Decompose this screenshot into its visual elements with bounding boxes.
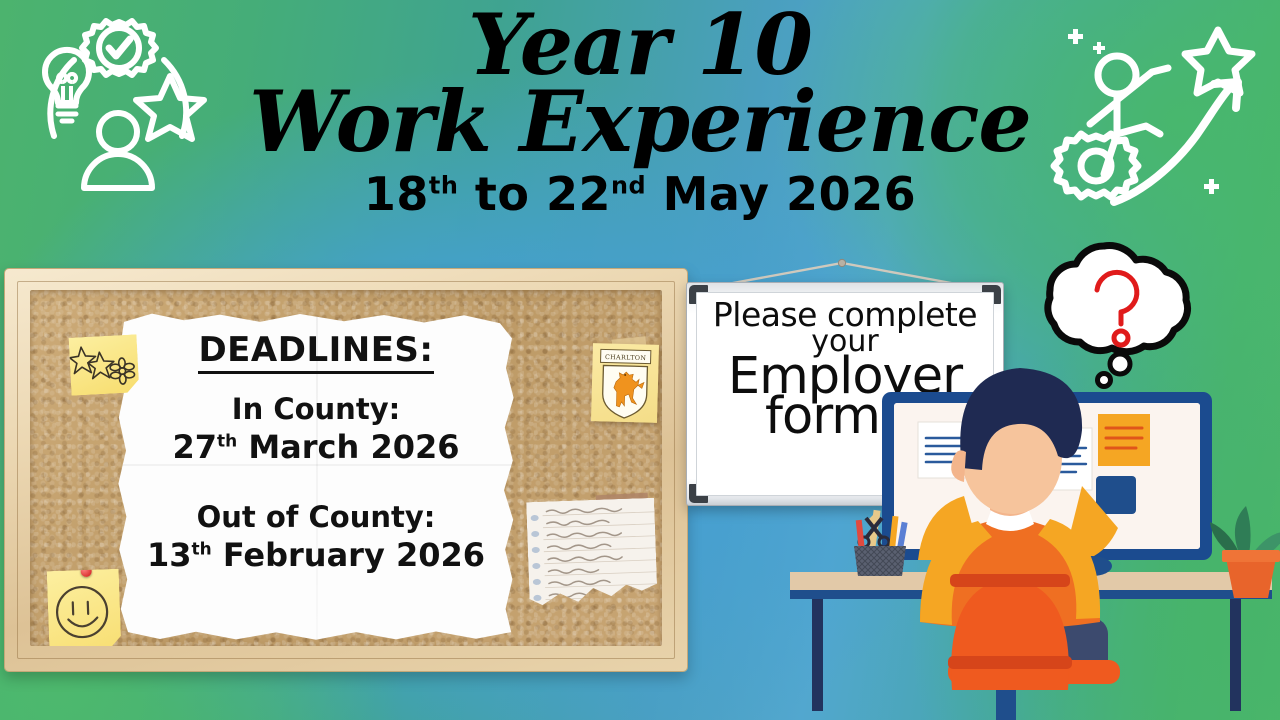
subtitle-connector: to 22 — [458, 167, 611, 221]
handwritten-scribbles — [526, 498, 658, 612]
deadline-label-in-county: In County: — [106, 392, 526, 426]
out-county-month-year: February 2026 — [212, 536, 485, 574]
cork-noticeboard: DEADLINES: In County: 27th March 2026 Ou… — [4, 268, 688, 672]
deadline-date-out-of-county: 13th February 2026 — [106, 536, 526, 574]
school-crest-note: CHARLTON — [591, 343, 659, 423]
rampant-lion-crest: CHARLTON — [591, 343, 659, 423]
title-line-1: Year 10 — [0, 0, 1280, 83]
subtitle-month-year: May 2026 — [646, 167, 916, 221]
in-county-month-year: March 2026 — [237, 428, 459, 466]
thought-tail-bubble-large — [1110, 354, 1130, 374]
deadlines-heading: DEADLINES: — [198, 330, 433, 374]
out-county-ordinal: th — [192, 538, 212, 558]
subtitle-day-start: 18 — [364, 167, 429, 221]
deadline-label-out-of-county: Out of County: — [106, 500, 526, 534]
date-range-subtitle: 18th to 22nd May 2026 — [0, 167, 1280, 221]
poster-canvas: Year 10 Work Experience 18th to 22nd May… — [0, 0, 1280, 720]
pot-rim — [1222, 550, 1280, 562]
screen-orange-card — [1098, 414, 1150, 466]
chair-back-strip-bottom — [948, 656, 1072, 669]
person-at-desk-illustration — [790, 360, 1280, 720]
out-county-day: 13 — [147, 536, 192, 574]
plant-pot — [1226, 558, 1276, 598]
thought-bubble — [1002, 238, 1238, 398]
desk-leg-right — [1230, 599, 1241, 711]
screen-blue-tile — [1096, 476, 1136, 514]
desk-leg-left — [812, 599, 823, 711]
crest-school-name: CHARLTON — [605, 354, 647, 362]
hole-punches — [531, 515, 542, 601]
chair-back-strip-top — [950, 574, 1070, 587]
in-county-day: 27 — [173, 428, 218, 466]
poster-header: Year 10 Work Experience 18th to 22nd May… — [0, 0, 1280, 221]
in-county-ordinal: th — [217, 430, 237, 450]
subtitle-ordinal-1: th — [429, 171, 458, 199]
page-title: Year 10 Work Experience — [0, 0, 1280, 161]
deadline-date-in-county: 27th March 2026 — [106, 428, 526, 466]
deadlines-text-block: DEADLINES: In County: 27th March 2026 Ou… — [106, 314, 526, 644]
title-line-2: Work Experience — [0, 83, 1280, 160]
subtitle-ordinal-2: nd — [611, 171, 646, 199]
lined-notepad-scrap — [526, 498, 658, 612]
thought-tail-bubble-small — [1098, 374, 1111, 387]
cork-board-surface: DEADLINES: In County: 27th March 2026 Ou… — [30, 290, 662, 646]
